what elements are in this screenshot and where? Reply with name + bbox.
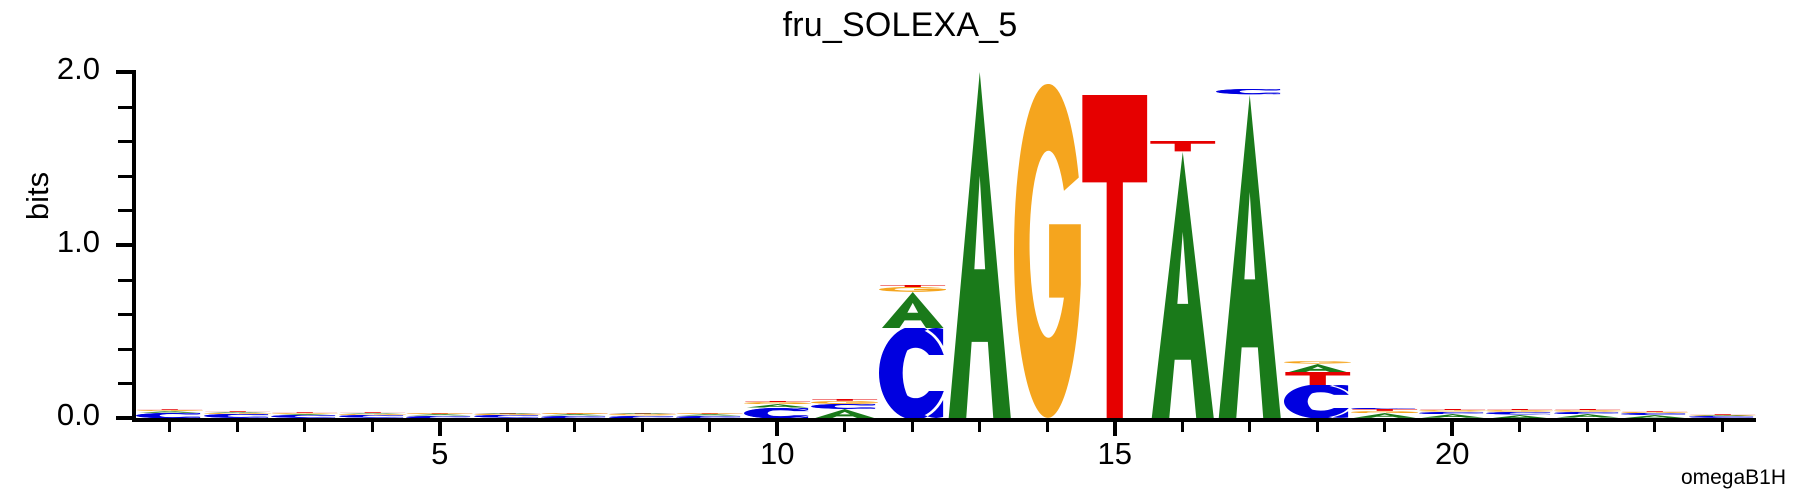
x-tick-minor bbox=[371, 422, 374, 432]
logo-letter-A bbox=[811, 409, 879, 419]
logo-letter-G bbox=[1014, 84, 1082, 418]
x-tick-label: 10 bbox=[742, 436, 812, 472]
x-tick-major bbox=[1113, 422, 1117, 436]
footer-credit: omegaB1H bbox=[1681, 466, 1786, 490]
x-tick-major bbox=[1450, 422, 1454, 436]
logo-stack bbox=[1621, 72, 1689, 418]
logo-stack bbox=[1351, 72, 1419, 418]
y-tick-major bbox=[116, 70, 132, 74]
x-tick-label: 5 bbox=[405, 436, 475, 472]
x-tick-minor bbox=[236, 422, 239, 432]
logo-stack bbox=[811, 72, 879, 418]
logo-stack bbox=[204, 72, 272, 418]
y-tick-minor bbox=[118, 279, 132, 282]
logo-stack bbox=[1419, 72, 1487, 418]
x-tick-minor bbox=[168, 422, 171, 432]
x-tick-minor bbox=[1046, 422, 1049, 432]
logo-stack bbox=[1486, 72, 1554, 418]
logo-stack bbox=[1554, 72, 1622, 418]
x-tick-minor bbox=[1586, 422, 1589, 432]
x-tick-minor bbox=[641, 422, 644, 432]
logo-stack bbox=[744, 72, 812, 418]
logo-letter-A bbox=[946, 72, 1014, 418]
logo-letter-C bbox=[744, 408, 812, 418]
logo-letter-A bbox=[1216, 95, 1284, 419]
logo-letter-T bbox=[1149, 141, 1217, 151]
y-tick-minor bbox=[118, 140, 132, 143]
x-tick-minor bbox=[1248, 422, 1251, 432]
logo-stack bbox=[541, 72, 609, 418]
logo-stack bbox=[339, 72, 407, 418]
logo-letter-C bbox=[879, 328, 947, 418]
x-tick-minor bbox=[708, 422, 711, 432]
x-tick-minor bbox=[1518, 422, 1521, 432]
y-tick-major bbox=[116, 243, 132, 247]
logo-stack bbox=[1689, 72, 1757, 418]
x-tick-label: 15 bbox=[1080, 436, 1150, 472]
y-tick-minor bbox=[118, 209, 132, 212]
logo-stack bbox=[136, 72, 204, 418]
logo-stack bbox=[609, 72, 677, 418]
logo-stack bbox=[1284, 72, 1352, 418]
logo-letter-A bbox=[879, 292, 947, 328]
x-tick-minor bbox=[573, 422, 576, 432]
logo-letter-C bbox=[1284, 385, 1352, 418]
sequence-logo-figure: fru_SOLEXA_5 bits 2.01.00.0 5101520 omeg… bbox=[0, 0, 1800, 496]
x-tick-minor bbox=[1383, 422, 1386, 432]
x-tick-major bbox=[438, 422, 442, 436]
logo-stack bbox=[271, 72, 339, 418]
logo-stack bbox=[406, 72, 474, 418]
x-tick-minor bbox=[843, 422, 846, 432]
y-tick-minor bbox=[118, 175, 132, 178]
x-tick-major bbox=[775, 422, 779, 436]
x-tick-minor bbox=[978, 422, 981, 432]
logo-letter-A bbox=[1284, 364, 1352, 373]
y-tick-minor bbox=[118, 313, 132, 316]
y-tick-label: 2.0 bbox=[14, 51, 100, 87]
x-tick-minor bbox=[303, 422, 306, 432]
y-tick-minor bbox=[118, 348, 132, 351]
logo-stack bbox=[1014, 72, 1082, 418]
y-tick-minor bbox=[118, 382, 132, 385]
x-tick-minor bbox=[1316, 422, 1319, 432]
y-tick-minor bbox=[118, 106, 132, 109]
logo-letter-T bbox=[1081, 95, 1149, 419]
logo-stack bbox=[1081, 72, 1149, 418]
x-tick-minor bbox=[506, 422, 509, 432]
x-tick-minor bbox=[1721, 422, 1724, 432]
y-tick-label: 1.0 bbox=[14, 224, 100, 260]
logo-stack bbox=[474, 72, 542, 418]
logo-stack bbox=[1149, 72, 1217, 418]
logo-stack bbox=[946, 72, 1014, 418]
y-tick-label: 0.0 bbox=[14, 397, 100, 433]
logo-stack bbox=[879, 72, 947, 418]
y-tick-major bbox=[116, 416, 132, 420]
logo-plot-area bbox=[136, 72, 1756, 418]
page-title: fru_SOLEXA_5 bbox=[0, 6, 1800, 45]
x-tick-minor bbox=[911, 422, 914, 432]
x-tick-minor bbox=[1653, 422, 1656, 432]
x-tick-label: 20 bbox=[1417, 436, 1487, 472]
x-tick-minor bbox=[1181, 422, 1184, 432]
x-axis-line bbox=[132, 418, 1756, 422]
logo-stack bbox=[676, 72, 744, 418]
logo-stack bbox=[1216, 72, 1284, 418]
logo-letter-T bbox=[1284, 372, 1352, 385]
logo-letter-A bbox=[1149, 152, 1217, 418]
